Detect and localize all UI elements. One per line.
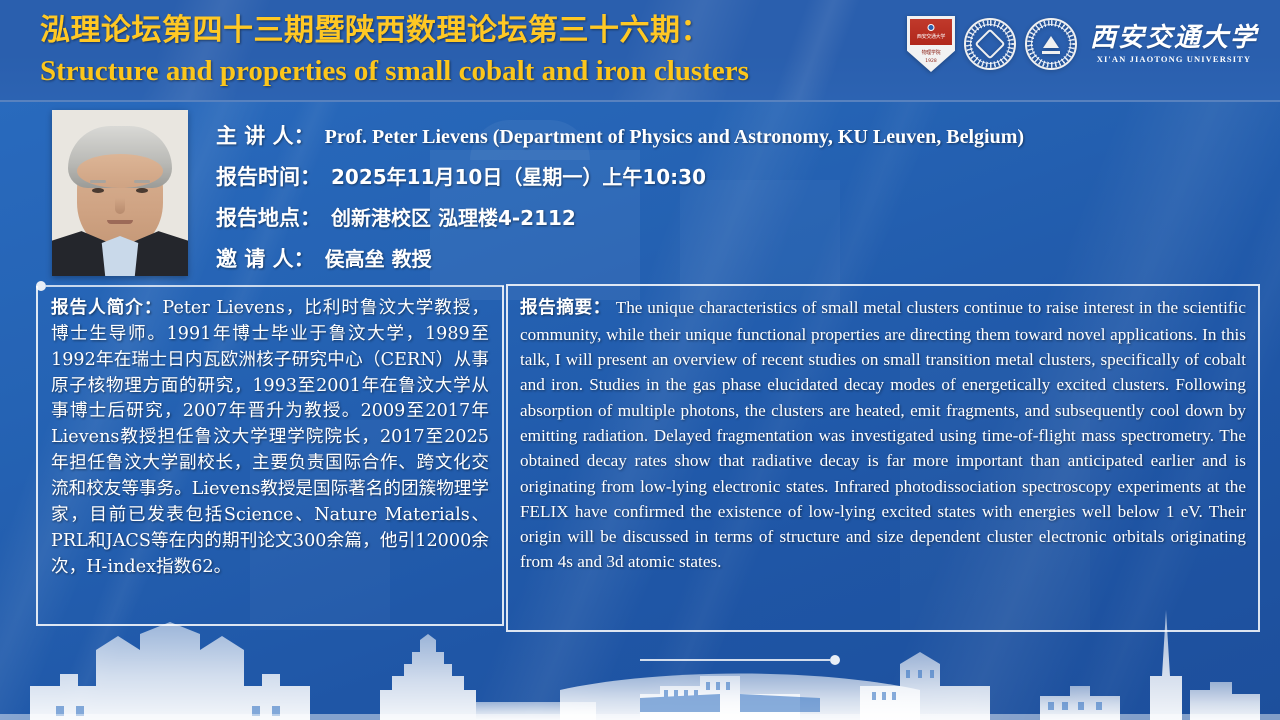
university-seal-circle-icon — [1025, 18, 1077, 70]
info-label-host: 邀 请 人： — [216, 243, 315, 273]
abstract-text: 报告摘要： The unique characteristics of smal… — [520, 295, 1246, 575]
shield-line3: 1928 — [907, 59, 955, 64]
info-label-speaker: 主 讲 人： — [216, 120, 315, 150]
physics-school-shield-icon: 西安交通大学 物理学院 1928 — [907, 16, 955, 72]
decorative-line-right — [640, 655, 840, 665]
wordmark-english: XI'AN JIAOTONG UNIVERSITY — [1097, 54, 1251, 64]
info-value-host: 侯高垒 教授 — [325, 243, 432, 272]
decorative-dot-icon — [830, 655, 840, 665]
info-label-location: 报告地点： — [216, 202, 321, 232]
info-value-time: 2025年11月10日（星期一）上午10:30 — [331, 161, 706, 190]
speaker-bio-box: 报告人简介：Peter Lievens，比利时鲁汶大学教授，博士生导师。1991… — [36, 286, 504, 626]
event-info-block: 主 讲 人： Prof. Peter Lievens (Department o… — [216, 120, 1256, 284]
shield-center-dot-icon — [927, 24, 934, 31]
info-row-speaker: 主 讲 人： Prof. Peter Lievens (Department o… — [216, 120, 1256, 150]
speaker-portrait-photo — [52, 110, 188, 276]
abstract-label: 报告摘要： — [520, 298, 611, 318]
info-row-time: 报告时间： 2025年11月10日（星期一）上午10:30 — [216, 161, 1256, 191]
wordmark-chinese: 西安交通大学 — [1090, 25, 1258, 51]
poster-title-group: 泓理论坛第四十三期暨陕西数理论坛第三十六期： Structure and pro… — [40, 14, 890, 89]
logo-strip: 西安交通大学 物理学院 1928 西安交通大学 XI'AN JIAOTONG U… — [907, 12, 1258, 76]
header-band: 泓理论坛第四十三期暨陕西数理论坛第三十六期： Structure and pro… — [0, 0, 1280, 102]
abstract-body: The unique characteristics of small meta… — [520, 298, 1246, 571]
info-value-location: 创新港校区 泓理楼4-2112 — [331, 202, 576, 231]
abstract-box: 报告摘要： The unique characteristics of smal… — [506, 284, 1260, 632]
speaker-bio-body: Peter Lievens，比利时鲁汶大学教授，博士生导师。1991年博士毕业于… — [51, 298, 489, 577]
shield-line2: 物理学院 — [907, 49, 955, 56]
shield-line1: 西安交通大学 — [907, 33, 955, 40]
info-label-time: 报告时间： — [216, 161, 321, 191]
speaker-bio-label: 报告人简介： — [51, 298, 162, 318]
school-emblem-circle-icon — [964, 18, 1016, 70]
university-wordmark: 西安交通大学 XI'AN JIAOTONG UNIVERSITY — [1090, 25, 1258, 64]
poster-canvas: 泓理论坛第四十三期暨陕西数理论坛第三十六期： Structure and pro… — [0, 0, 1280, 720]
poster-title-chinese: 泓理论坛第四十三期暨陕西数理论坛第三十六期： — [40, 14, 890, 47]
info-value-speaker: Prof. Peter Lievens (Department of Physi… — [325, 126, 1024, 149]
info-row-host: 邀 请 人： 侯高垒 教授 — [216, 243, 1256, 273]
poster-title-english: Structure and properties of small cobalt… — [40, 53, 890, 89]
speaker-bio-text: 报告人简介：Peter Lievens，比利时鲁汶大学教授，博士生导师。1991… — [51, 296, 489, 580]
info-row-location: 报告地点： 创新港校区 泓理楼4-2112 — [216, 202, 1256, 232]
